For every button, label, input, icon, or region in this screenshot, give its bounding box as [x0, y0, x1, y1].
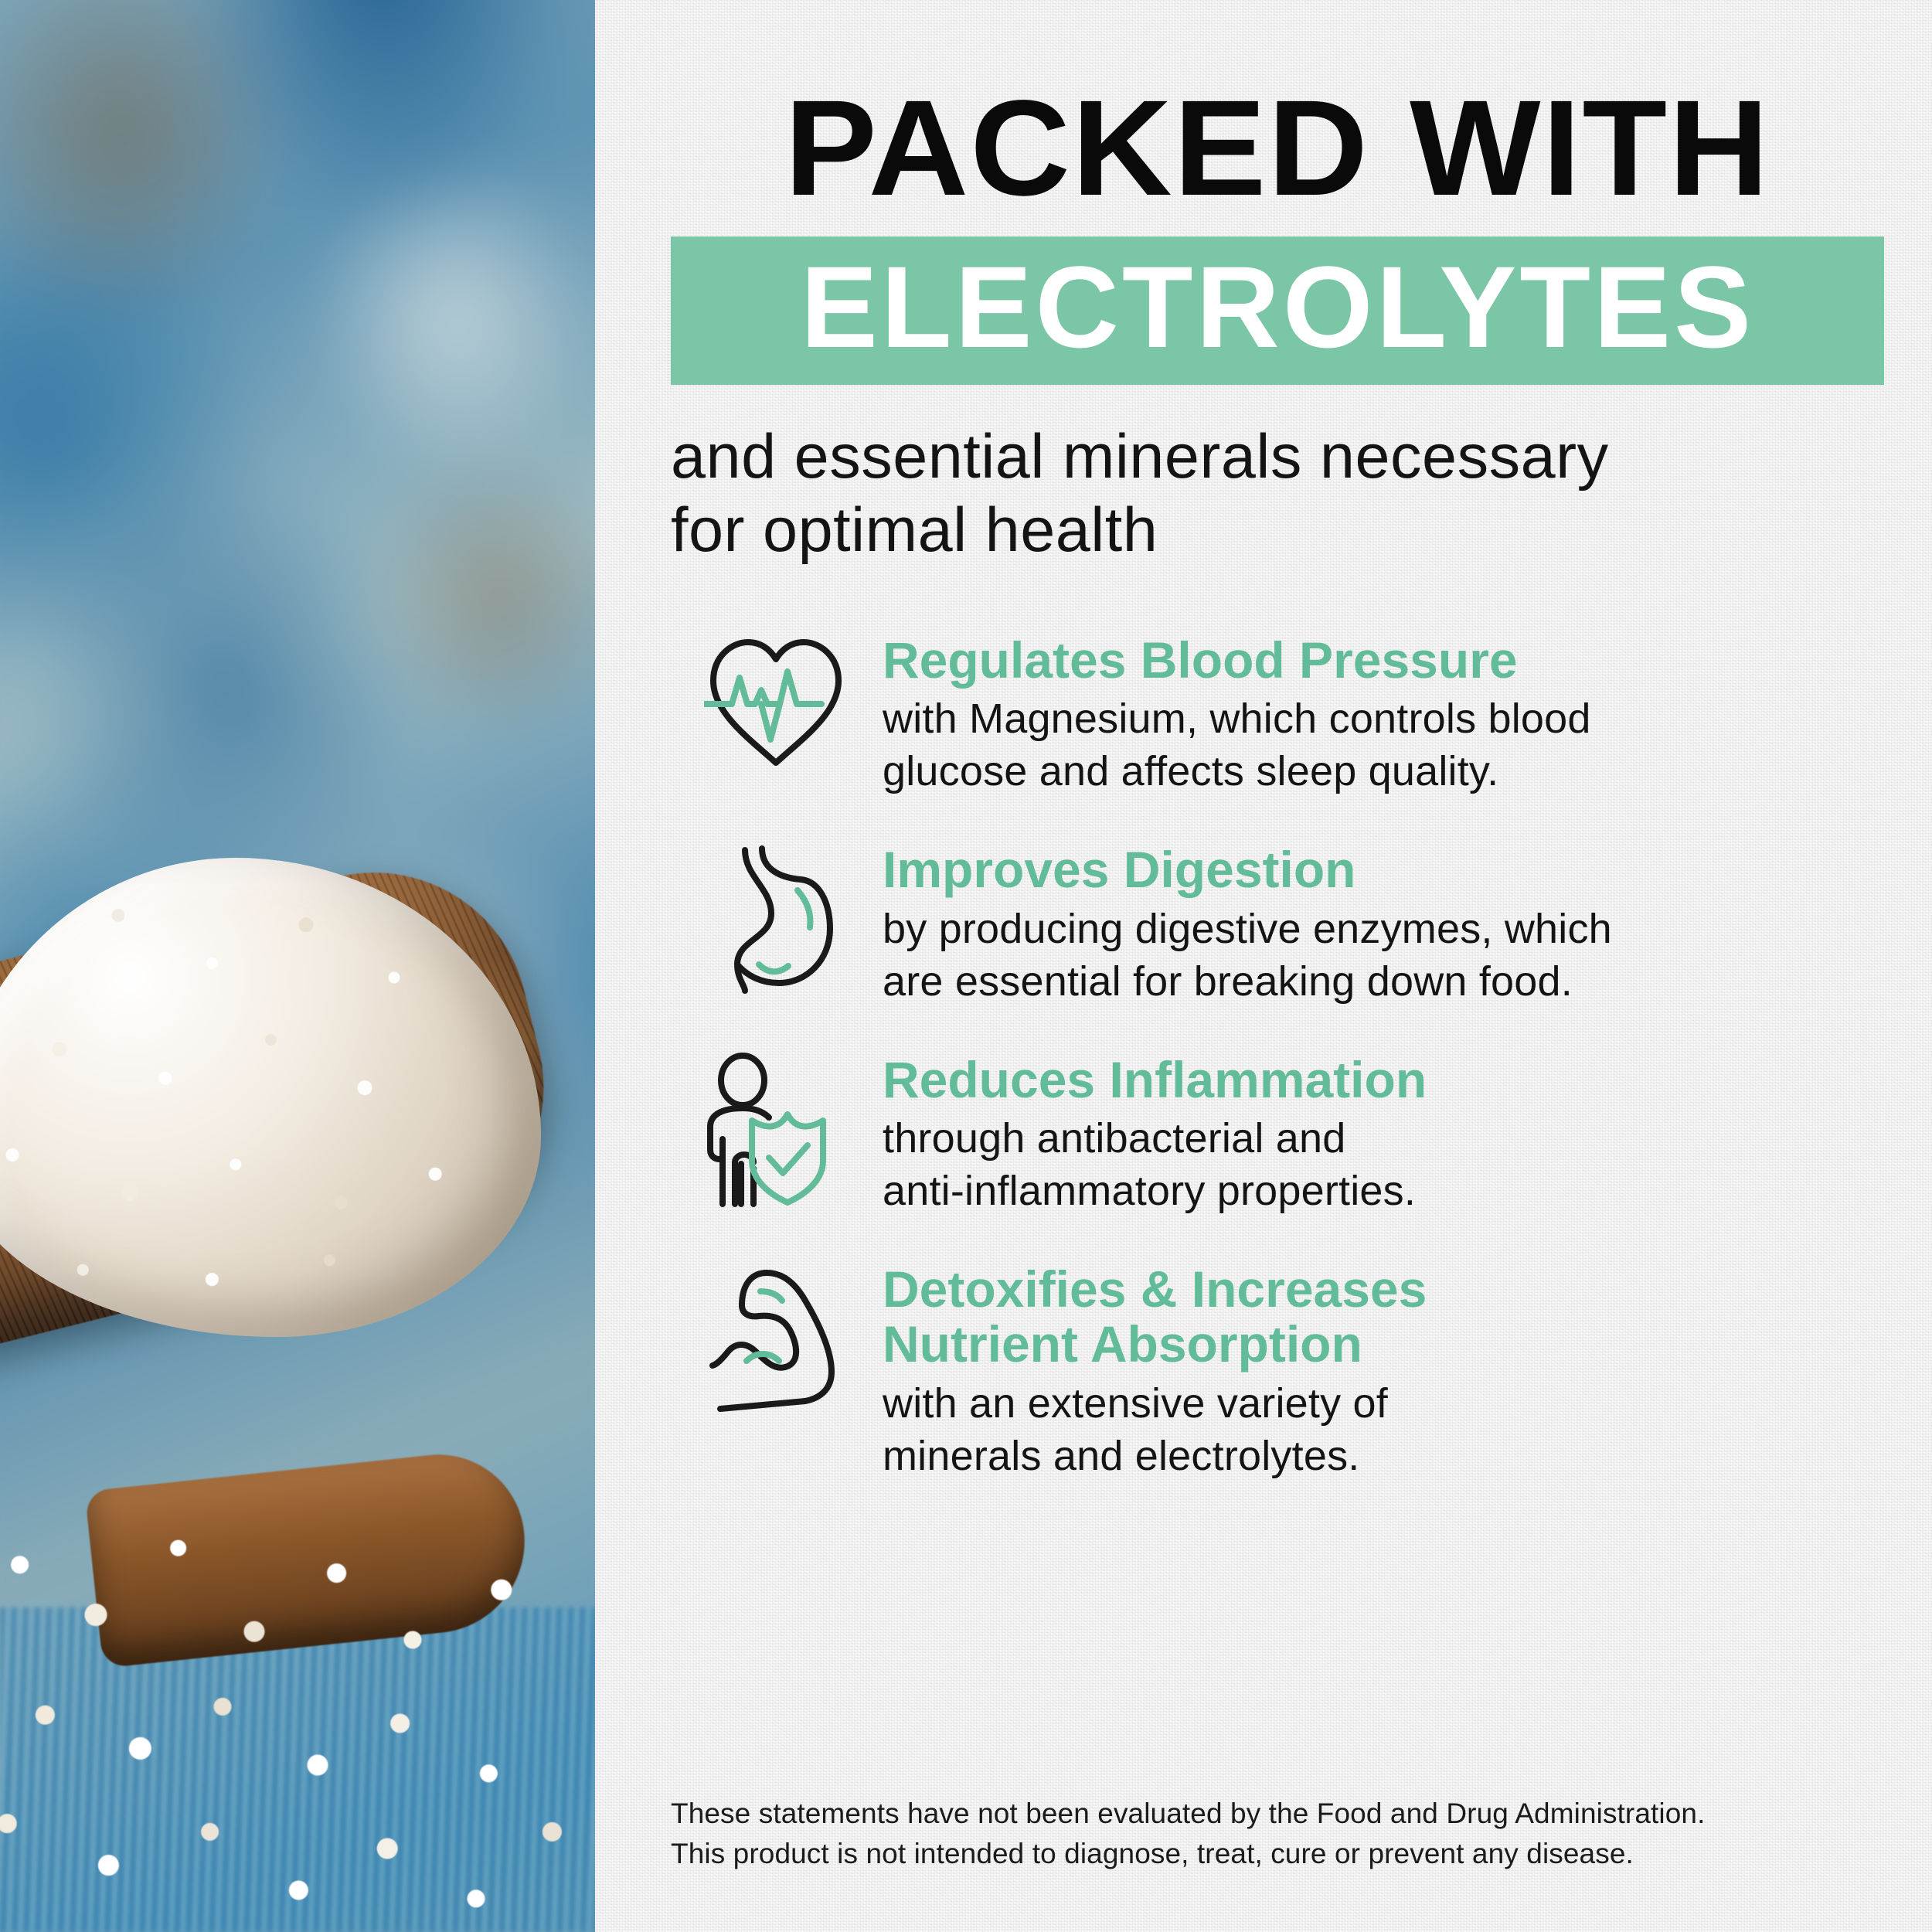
- benefit-item: Regulates Blood Pressure with Magnesium,…: [700, 628, 1884, 798]
- benefit-description: with Magnesium, which controls blood glu…: [883, 692, 1884, 798]
- subtitle-line-1: and essential minerals necessary: [671, 420, 1884, 495]
- benefit-desc-line-1: by producing digestive enzymes, which: [883, 903, 1884, 955]
- fda-disclaimer: These statements have not been evaluated…: [671, 1794, 1884, 1875]
- benefit-desc-line-2: minerals and electrolytes.: [883, 1430, 1884, 1482]
- benefit-description: through antibacterial and anti-inflammat…: [883, 1112, 1884, 1217]
- benefit-desc-line-1: with an extensive variety of: [883, 1377, 1884, 1430]
- benefit-item: Detoxifies & Increases Nutrient Absorpti…: [700, 1257, 1884, 1482]
- benefit-desc-line-1: through antibacterial and: [883, 1112, 1884, 1165]
- benefit-text: Detoxifies & Increases Nutrient Absorpti…: [883, 1257, 1884, 1482]
- benefits-list: Regulates Blood Pressure with Magnesium,…: [671, 628, 1884, 1482]
- benefit-description: by producing digestive enzymes, which ar…: [883, 903, 1884, 1008]
- benefit-item: Improves Digestion by producing digestiv…: [700, 838, 1884, 1007]
- subtitle: and essential minerals necessary for opt…: [671, 420, 1884, 568]
- disclaimer-line-1: These statements have not been evaluated…: [671, 1794, 1884, 1835]
- benefit-text: Improves Digestion by producing digestiv…: [883, 838, 1884, 1007]
- content-panel: PACKED WITH ELECTROLYTES and essential m…: [595, 0, 1932, 1932]
- product-photo: [0, 0, 595, 1932]
- scattered-salt-crystals: [0, 1515, 595, 1932]
- flexed-bicep-icon: [700, 1257, 852, 1420]
- disclaimer-line-2: This product is not intended to diagnose…: [671, 1834, 1884, 1875]
- benefit-desc-line-2: are essential for breaking down food.: [883, 955, 1884, 1008]
- page-title: PACKED WITH: [658, 0, 1896, 212]
- subtitle-line-2: for optimal health: [671, 494, 1884, 568]
- benefit-title: Regulates Blood Pressure: [883, 633, 1884, 688]
- infographic-poster: PACKED WITH ELECTROLYTES and essential m…: [0, 0, 1932, 1932]
- benefit-title: Improves Digestion: [883, 842, 1884, 897]
- benefit-desc-line-2: anti-inflammatory properties.: [883, 1165, 1884, 1217]
- benefit-desc-line-2: glucose and affects sleep quality.: [883, 745, 1884, 798]
- benefit-desc-line-1: with Magnesium, which controls blood: [883, 692, 1884, 745]
- benefit-description: with an extensive variety of minerals an…: [883, 1377, 1884, 1482]
- benefit-title: Detoxifies & Increases Nutrient Absorpti…: [883, 1262, 1884, 1372]
- person-shield-icon: [700, 1048, 852, 1210]
- benefit-title-line-1: Detoxifies & Increases: [883, 1262, 1884, 1317]
- benefit-item: Reduces Inflammation through antibacteri…: [700, 1048, 1884, 1217]
- stomach-icon: [700, 838, 852, 1000]
- benefit-text: Reduces Inflammation through antibacteri…: [883, 1048, 1884, 1217]
- benefit-title: Reduces Inflammation: [883, 1053, 1884, 1107]
- electrolytes-banner: ELECTROLYTES: [671, 236, 1884, 385]
- heart-pulse-icon: [700, 628, 852, 791]
- benefit-title-line-2: Nutrient Absorption: [883, 1317, 1884, 1372]
- benefit-text: Regulates Blood Pressure with Magnesium,…: [883, 628, 1884, 798]
- banner-word: ELECTROLYTES: [671, 249, 1884, 365]
